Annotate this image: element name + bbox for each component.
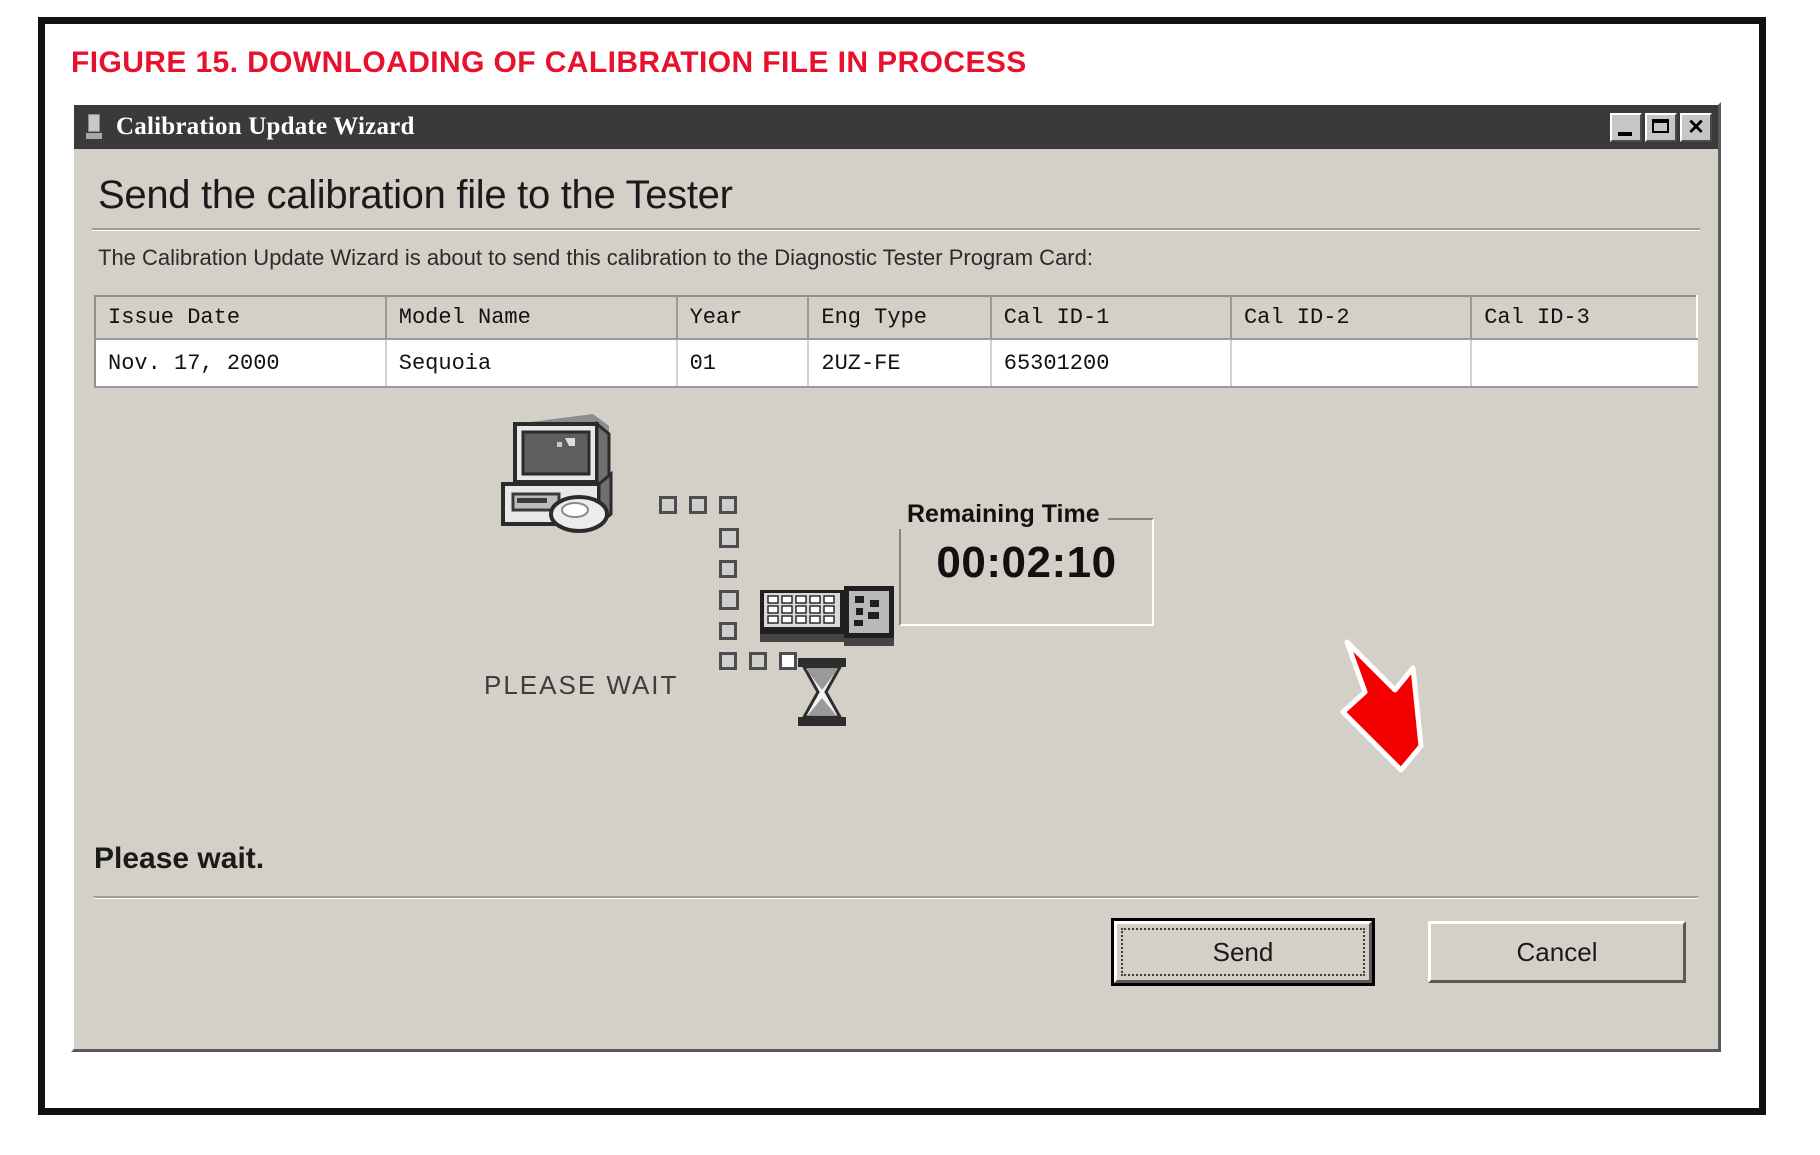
column-header-cal-id-2: Cal ID-2 [1231, 296, 1471, 339]
heading-divider [92, 228, 1700, 231]
column-header-cal-id-3: Cal ID-3 [1471, 296, 1697, 339]
data-packet-dot [719, 590, 739, 610]
figure-caption: FIGURE 15. DOWNLOADING OF CALIBRATION FI… [71, 46, 1027, 80]
data-packet-dot [659, 496, 677, 514]
cell-cal-id-2 [1231, 339, 1471, 387]
data-packet-dot [719, 528, 739, 548]
cancel-button[interactable]: Cancel [1428, 921, 1686, 983]
window-titlebar[interactable]: Calibration Update Wizard ✕ [74, 105, 1718, 149]
remaining-time-label: Remaining Time [899, 500, 1108, 529]
data-packet-dot [749, 652, 767, 670]
minimize-icon [1618, 132, 1632, 136]
cell-year: 01 [677, 339, 809, 387]
dialog-button-row: Send Cancel [94, 921, 1698, 983]
column-header-cal-id-1: Cal ID-1 [991, 296, 1231, 339]
window-controls: ✕ [1610, 113, 1712, 142]
program-icon [84, 114, 104, 140]
dialog-body: Send the calibration file to the Tester … [74, 149, 1718, 1049]
footer-divider [94, 896, 1698, 899]
figure-frame: FIGURE 15. DOWNLOADING OF CALIBRATION FI… [38, 17, 1766, 1115]
column-header-eng-type: Eng Type [808, 296, 990, 339]
data-packet-dot [719, 560, 737, 578]
close-button[interactable]: ✕ [1680, 113, 1712, 142]
table-row[interactable]: Nov. 17, 2000 Sequoia 01 2UZ-FE 65301200 [95, 339, 1697, 387]
status-message: Please wait. [94, 842, 1698, 876]
description-text: The Calibration Update Wizard is about t… [98, 245, 1700, 271]
data-packet-dot [719, 496, 737, 514]
send-button[interactable]: Send [1114, 921, 1372, 983]
transfer-animation-panel: PLEASE WAIT Remaining Time 00:02:10 [94, 388, 1698, 842]
page-title: Send the calibration file to the Tester [98, 173, 1700, 218]
column-header-issue-date: Issue Date [95, 296, 386, 339]
cancel-button-label: Cancel [1517, 937, 1598, 968]
table-header-row: Issue Date Model Name Year Eng Type Cal … [95, 296, 1697, 339]
please-wait-label: PLEASE WAIT [484, 670, 678, 701]
maximize-button[interactable] [1645, 113, 1677, 142]
focus-indicator [1121, 928, 1365, 976]
cell-eng-type: 2UZ-FE [808, 339, 990, 387]
data-packet-dot [689, 496, 707, 514]
red-pointer-arrow [1337, 634, 1457, 774]
hourglass-icon [794, 656, 850, 728]
cell-cal-id-3 [1471, 339, 1697, 387]
maximize-icon [1652, 119, 1669, 133]
close-icon: ✕ [1682, 115, 1710, 140]
window-title: Calibration Update Wizard [116, 113, 415, 141]
computer-icon [497, 408, 623, 540]
column-header-year: Year [677, 296, 809, 339]
minimize-button[interactable] [1610, 113, 1642, 142]
calibration-table: Issue Date Model Name Year Eng Type Cal … [94, 295, 1698, 388]
data-packet-dot [719, 622, 737, 640]
cell-issue-date: Nov. 17, 2000 [95, 339, 386, 387]
cell-cal-id-1: 65301200 [991, 339, 1231, 387]
data-packet-dot [719, 652, 737, 670]
remaining-time-value: 00:02:10 [899, 538, 1154, 588]
cell-model-name: Sequoia [386, 339, 677, 387]
column-header-model-name: Model Name [386, 296, 677, 339]
diagnostic-tester-icon [756, 586, 898, 648]
calibration-update-wizard-window: Calibration Update Wizard ✕ Send the cal… [71, 102, 1721, 1052]
